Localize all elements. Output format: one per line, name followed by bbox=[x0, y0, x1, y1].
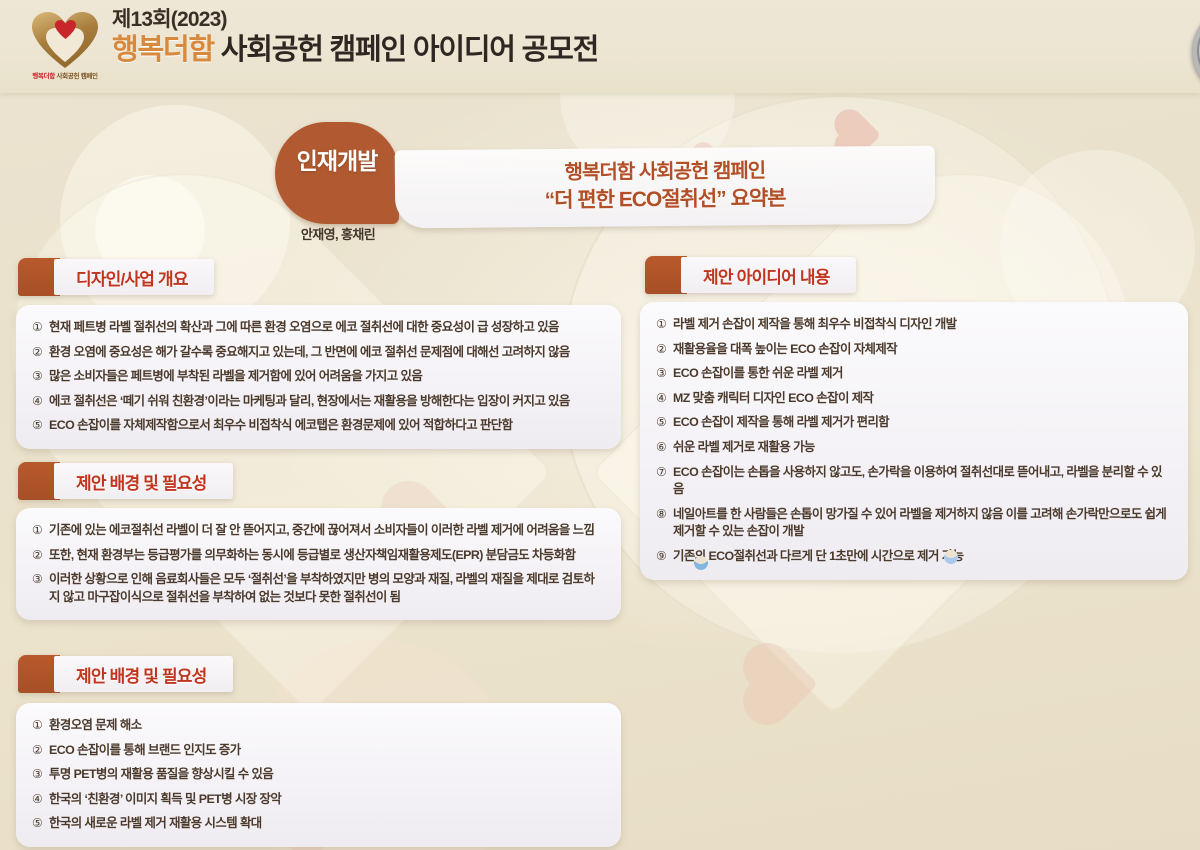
list-item-text: ECO 손잡이를 자체제작함으로서 최우수 비접착식 에코탭은 환경문제에 있어… bbox=[49, 417, 603, 435]
section-list: ①라벨 제거 손잡이 제작을 통해 최우수 비접착식 디자인 개발 ②재활용율을… bbox=[656, 316, 1170, 566]
section-header-bar: 디자인/사업 개요 bbox=[54, 259, 214, 295]
list-item: ④한국의 ‘친환경’ 이미지 획득 및 PET병 시장 장악 bbox=[32, 791, 603, 809]
header-main-title: 행복더함 사회공헌 캠페인 아이디어 공모전 bbox=[112, 34, 598, 66]
list-item-number: ② bbox=[32, 742, 49, 760]
list-item-number: ⑨ bbox=[656, 548, 673, 566]
list-item: ④MZ 맞춤 캐릭터 디자인 ECO 손잡이 제작 bbox=[656, 390, 1170, 408]
section-card-proposal-idea: ①라벨 제거 손잡이 제작을 통해 최우수 비접착식 디자인 개발 ②재활용율을… bbox=[640, 302, 1188, 580]
list-item-text: 또한, 현재 환경부는 등급평가를 의무화하는 동시에 등급별로 생산자책임재활… bbox=[49, 547, 603, 565]
list-item-number: ① bbox=[32, 319, 49, 337]
section-header-bar: 제안 배경 및 필요성 bbox=[54, 463, 233, 499]
section-heading-text: 디자인/사업 개요 bbox=[76, 265, 188, 290]
list-item-text: MZ 맞춤 캐릭터 디자인 ECO 손잡이 제작 bbox=[673, 390, 1170, 408]
list-item-number: ③ bbox=[32, 766, 49, 784]
list-item: ①환경오염 문제 해소 bbox=[32, 717, 603, 735]
brand-logo-caption-rest: 사회공헌 캠페인 bbox=[55, 73, 98, 80]
list-item-text: 네일아트를 한 사람들은 손톱이 망가질 수 있어 라벨을 제거하지 않음 이를… bbox=[673, 506, 1170, 541]
list-item: ③이러한 상황으로 인해 음료회사들은 모두 ‘절취선’을 부착하였지만 병의 … bbox=[32, 571, 603, 606]
list-item: ①라벨 제거 손잡이 제작을 통해 최우수 비접착식 디자인 개발 bbox=[656, 316, 1170, 334]
list-item: ①기존에 있는 에코절취선 라벨이 더 잘 안 뜯어지고, 중간에 끊어져서 소… bbox=[32, 522, 603, 540]
list-item-number: ⑥ bbox=[656, 439, 673, 457]
list-item: ③투명 PET병의 재활용 품질을 향상시킬 수 있음 bbox=[32, 766, 603, 784]
list-item-number: ③ bbox=[32, 368, 49, 386]
list-item: ⑤ECO 손잡이 제작을 통해 라벨 제거가 편리함 bbox=[656, 414, 1170, 432]
main-title-line1: 행복더함 사회공헌 캠페인 bbox=[564, 158, 765, 187]
list-item-text: ECO 손잡이는 손톱을 사용하지 않고도, 손가락을 이용하여 절취선대로 뜯… bbox=[673, 464, 1170, 499]
list-item-text: 환경 오염에 중요성은 해가 갈수록 중요해지고 있는데, 그 반면에 에코 절… bbox=[49, 344, 603, 362]
list-item: ②재활용율을 대폭 높이는 ECO 손잡이 자체제작 bbox=[656, 341, 1170, 359]
list-item-number: ⑤ bbox=[32, 815, 49, 833]
list-item-number: ④ bbox=[32, 791, 49, 809]
list-item-text: 쉬운 라벨 제거로 재활용 가능 bbox=[673, 439, 1170, 457]
team-badge-label: 인재개발 bbox=[276, 142, 398, 176]
list-item: ⑤ECO 손잡이를 자체제작함으로서 최우수 비접착식 에코탭은 환경문제에 있… bbox=[32, 417, 603, 435]
list-item: ②환경 오염에 중요성은 해가 갈수록 중요해지고 있는데, 그 반면에 에코 … bbox=[32, 344, 603, 362]
team-member-names: 안재영, 홍채린 bbox=[268, 224, 408, 243]
heart-logo-icon bbox=[32, 12, 98, 68]
main-title-plaque: 행복더함 사회공헌 캠페인 “더 편한 ECO절취선” 요약본 bbox=[395, 146, 936, 229]
section-list: ①기존에 있는 에코절취선 라벨이 더 잘 안 뜯어지고, 중간에 끊어져서 소… bbox=[32, 522, 603, 606]
list-item-number: ② bbox=[32, 547, 49, 565]
list-item: ③ECO 손잡이를 통한 쉬운 라벨 제거 bbox=[656, 365, 1170, 383]
list-item-number: ⑦ bbox=[656, 464, 673, 499]
list-item: ⑥쉬운 라벨 제거로 재활용 가능 bbox=[656, 439, 1170, 457]
section-card-background-need-1: ①기존에 있는 에코절취선 라벨이 더 잘 안 뜯어지고, 중간에 끊어져서 소… bbox=[16, 508, 621, 620]
list-item-number: ① bbox=[656, 316, 673, 334]
section-list: ①환경오염 문제 해소 ②ECO 손잡이를 통해 브랜드 인지도 증가 ③투명 … bbox=[32, 717, 603, 833]
list-item: ④에코 절취선은 ‘떼기 쉬워 친환경’이라는 마케팅과 달리, 현장에서는 재… bbox=[32, 393, 603, 411]
photo-outdoor-image bbox=[694, 556, 922, 801]
background-circle-decoration bbox=[60, 105, 290, 335]
list-item-number: ② bbox=[32, 344, 49, 362]
photo-outdoor bbox=[694, 556, 922, 801]
list-item-text: 많은 소비자들은 페트병에 부착된 라벨을 제거함에 있어 어려움을 가지고 있… bbox=[49, 368, 603, 386]
list-item-text: ECO 손잡이를 통한 쉬운 라벨 제거 bbox=[673, 365, 1170, 383]
header-edition: 제13회(2023) bbox=[112, 9, 598, 31]
list-item-number: ⑤ bbox=[32, 417, 49, 435]
list-item-text: 라벨 제거 손잡이 제작을 통해 최우수 비접착식 디자인 개발 bbox=[673, 316, 1170, 334]
section-header-bar: 제안 아이디어 내용 bbox=[681, 257, 856, 293]
section-card-background-need-2: ①환경오염 문제 해소 ②ECO 손잡이를 통해 브랜드 인지도 증가 ③투명 … bbox=[16, 703, 621, 847]
list-item-number: ③ bbox=[656, 365, 673, 383]
list-item-text: 이러한 상황으로 인해 음료회사들은 모두 ‘절취선’을 부착하였지만 병의 모… bbox=[49, 571, 603, 606]
list-item-text: ECO 손잡이를 통해 브랜드 인지도 증가 bbox=[49, 742, 603, 760]
list-item-number: ④ bbox=[656, 390, 673, 408]
section-header-bar: 제안 배경 및 필요성 bbox=[54, 656, 233, 692]
list-item-number: ⑤ bbox=[656, 414, 673, 432]
list-item-text: 투명 PET병의 재활용 품질을 향상시킬 수 있음 bbox=[49, 766, 603, 784]
list-item-text: 에코 절취선은 ‘떼기 쉬워 친환경’이라는 마케팅과 달리, 현장에서는 재활… bbox=[49, 393, 603, 411]
list-item-number: ② bbox=[656, 341, 673, 359]
photo-selfie bbox=[944, 550, 1176, 800]
photo-selfie-image bbox=[944, 550, 1176, 800]
brand-logo-caption: 행복더함 사회공헌 캠페인 bbox=[22, 70, 108, 80]
list-item: ②ECO 손잡이를 통해 브랜드 인지도 증가 bbox=[32, 742, 603, 760]
list-item-number: ⑧ bbox=[656, 506, 673, 541]
list-item-number: ④ bbox=[32, 393, 49, 411]
list-item-text: 현재 페트병 라벨 절취선의 확산과 그에 따른 환경 오염으로 에코 절취선에… bbox=[49, 319, 603, 337]
header-title-block: 제13회(2023) 행복더함 사회공헌 캠페인 아이디어 공모전 bbox=[112, 9, 598, 67]
section-heading-text: 제안 배경 및 필요성 bbox=[76, 469, 207, 494]
list-item-text: 환경오염 문제 해소 bbox=[49, 717, 603, 735]
list-item: ①현재 페트병 라벨 절취선의 확산과 그에 따른 환경 오염으로 에코 절취선… bbox=[32, 319, 603, 337]
list-item-text: 한국의 새로운 라벨 제거 재활용 시스템 확대 bbox=[49, 815, 603, 833]
list-item: ②또한, 현재 환경부는 등급평가를 의무화하는 동시에 등급별로 생산자책임재… bbox=[32, 547, 603, 565]
list-item-text: 기존에 있는 에코절취선 라벨이 더 잘 안 뜯어지고, 중간에 끊어져서 소비… bbox=[49, 522, 603, 540]
list-item-number: ① bbox=[32, 522, 49, 540]
section-list: ①현재 페트병 라벨 절취선의 확산과 그에 따른 환경 오염으로 에코 절취선… bbox=[32, 319, 603, 435]
list-item-text: ECO 손잡이 제작을 통해 라벨 제거가 편리함 bbox=[673, 414, 1170, 432]
list-item-number: ③ bbox=[32, 571, 49, 606]
header-title-rest: 사회공헌 캠페인 아이디어 공모전 bbox=[214, 34, 598, 66]
list-item: ⑦ECO 손잡이는 손톱을 사용하지 않고도, 손가락을 이용하여 절취선대로 … bbox=[656, 464, 1170, 499]
section-heading-text: 제안 배경 및 필요성 bbox=[76, 662, 207, 687]
list-item: ⑤한국의 새로운 라벨 제거 재활용 시스템 확대 bbox=[32, 815, 603, 833]
section-card-design-overview: ①현재 페트병 라벨 절취선의 확산과 그에 따른 환경 오염으로 에코 절취선… bbox=[16, 305, 621, 449]
list-item: ③많은 소비자들은 페트병에 부착된 라벨을 제거함에 있어 어려움을 가지고 … bbox=[32, 368, 603, 386]
list-item: ⑧네일아트를 한 사람들은 손톱이 망가질 수 있어 라벨을 제거하지 않음 이… bbox=[656, 506, 1170, 541]
header-band: 행복더함 사회공헌 캠페인 제13회(2023) 행복더함 사회공헌 캠페인 아… bbox=[0, 0, 1200, 93]
header-title-highlight: 행복더함 bbox=[112, 34, 214, 66]
main-title-line2: “더 편한 ECO절취선” 요약본 bbox=[545, 185, 786, 215]
list-item-text: 재활용율을 대폭 높이는 ECO 손잡이 자체제작 bbox=[673, 341, 1170, 359]
brand-logo-caption-accent: 행복더함 bbox=[32, 73, 55, 80]
brand-logo: 행복더함 사회공헌 캠페인 bbox=[22, 8, 108, 86]
list-item-text: 한국의 ‘친환경’ 이미지 획득 및 PET병 시장 장악 bbox=[49, 791, 603, 809]
list-item-number: ① bbox=[32, 717, 49, 735]
poster-root: 행복더함 사회공헌 캠페인 제13회(2023) 행복더함 사회공헌 캠페인 아… bbox=[0, 0, 1200, 850]
section-heading-text: 제안 아이디어 내용 bbox=[703, 263, 830, 288]
